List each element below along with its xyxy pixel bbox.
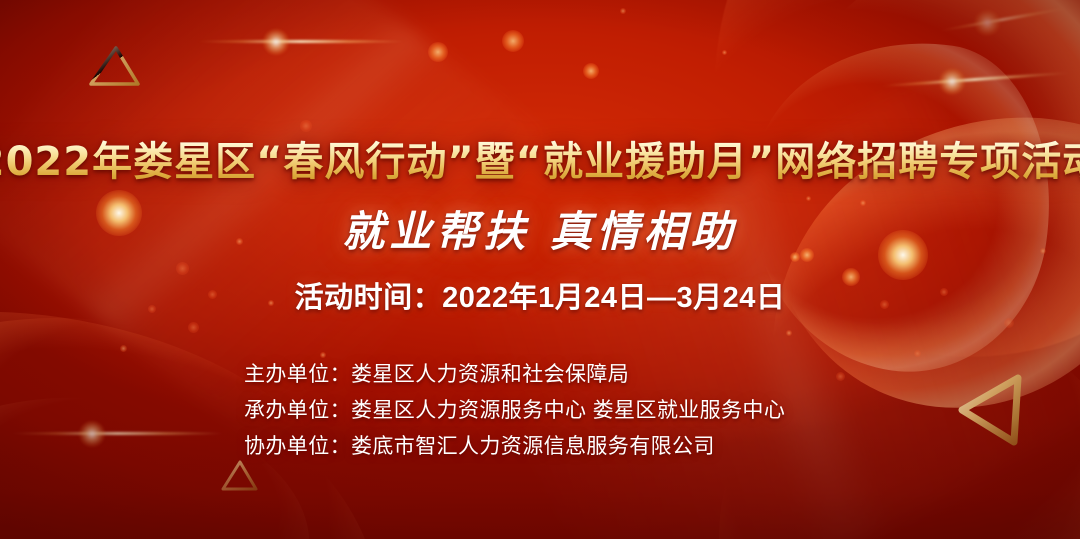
poster-content: 2022年娄星区“春风行动”暨“就业援助月”网络招聘专项活动 就业帮扶 真情相助…	[0, 0, 1080, 539]
poster-slogan: 就业帮扶 真情相助	[342, 198, 738, 259]
organizer-host: 主办单位：娄星区人力资源和社会保障局	[244, 358, 785, 388]
organizer-list: 主办单位：娄星区人力资源和社会保障局 承办单位：娄星区人力资源服务中心 娄星区就…	[244, 358, 785, 460]
page-title: 2022年娄星区“春风行动”暨“就业援助月”网络招聘专项活动	[0, 140, 1080, 185]
organizer-coorganizer: 协办单位：娄底市智汇人力资源信息服务有限公司	[244, 430, 785, 460]
organizer-organizer: 承办单位：娄星区人力资源服务中心 娄星区就业服务中心	[244, 394, 785, 424]
event-poster: 2022年娄星区“春风行动”暨“就业援助月”网络招聘专项活动 就业帮扶 真情相助…	[0, 0, 1080, 539]
event-datetime: 活动时间：2022年1月24日—3月24日	[295, 274, 786, 316]
